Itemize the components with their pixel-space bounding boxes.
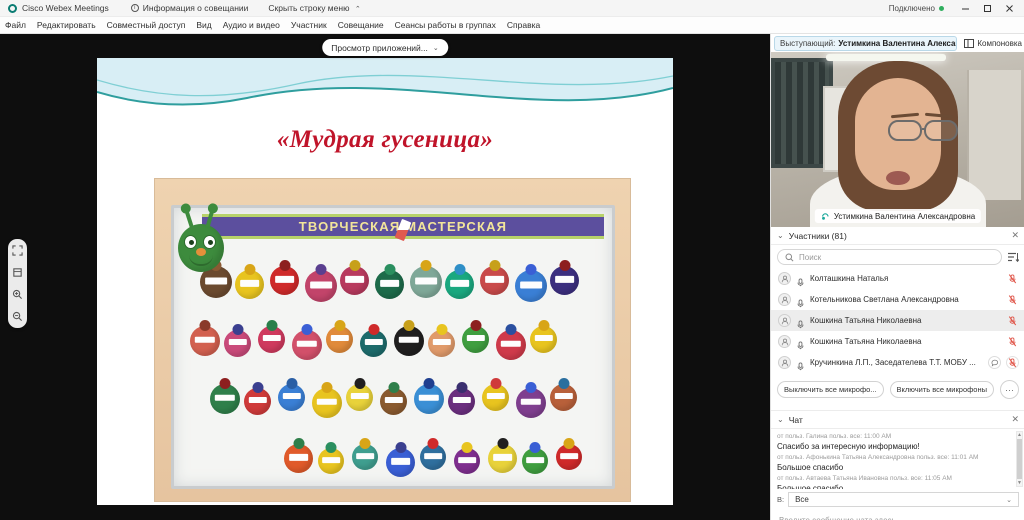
paper-label [534,335,552,341]
paper-label [493,454,513,460]
paper-circle [278,384,305,411]
sort-participants-icon[interactable] [1007,251,1019,263]
maximize-button[interactable] [976,0,998,16]
paper-cap [559,260,570,271]
participant-row[interactable]: Кошкина Татьяна Николаевна [771,310,1024,331]
paper-cap [395,442,406,453]
paper-circle [414,384,444,414]
paper-cap [436,324,447,335]
paper-cap [293,438,304,449]
menu-item-audio-video[interactable]: Аудио и видео [223,20,280,30]
paper-label [248,397,266,403]
video-name-chip: Устимкина Валентина Александровна [815,209,981,223]
paper-label [262,335,280,341]
paper-label [310,281,332,288]
paper-label [486,393,504,399]
participant-row[interactable]: Колташкина Наталья [771,268,1024,289]
paper-circle [270,266,299,295]
layout-icon [964,39,974,48]
paper-circle [360,330,387,357]
mic-muted-icon [1008,337,1017,347]
paper-cap [428,438,439,449]
paper-cap [279,260,290,271]
avatar [778,335,791,348]
paper-circle [235,270,264,299]
application-view-dropdown[interactable]: Просмотр приложений... ⌄ [322,39,448,56]
layout-button[interactable]: Компоновка [964,39,1022,48]
paper-circle [346,384,373,411]
webex-meeting-window: Cisco Webex Meetings i Информация о сове… [0,0,1024,520]
paper-cap [244,264,255,275]
participant-row[interactable]: Кошкина Татьяна Николаевна [771,331,1024,352]
paper-cap [530,442,541,453]
zoom-out-icon[interactable] [11,310,24,323]
mute-toggle-icon[interactable] [1006,272,1019,285]
meeting-info-label: Информация о совещании [143,3,249,13]
mute-all-button[interactable]: Выключить все микрофо... [777,381,884,398]
paper-cap [384,264,395,275]
paper-cap [316,264,327,275]
paper-circle [448,388,475,415]
close-chat-icon[interactable]: ✕ [1011,414,1019,425]
participant-chat-icon[interactable] [988,356,1001,369]
slide-photo: ТВОРЧЕСКАЯ МАСТЕРСКАЯ [154,178,631,502]
participant-name: Колташкина Наталья [810,274,1001,283]
titlebar-right-group: Подключено [889,0,1020,16]
person-icon [781,359,789,367]
audio-status-icon [796,274,805,283]
active-speaker-prefix: Выступающий: [780,39,835,48]
menu-item-file[interactable]: Файл [5,20,26,30]
paper-cap [200,320,211,331]
paper-label [526,457,544,463]
chat-scrollbar[interactable]: ▲ ▼ [1016,431,1023,487]
layout-label: Компоновка [977,39,1022,48]
paper-label [419,395,439,402]
chat-message-meta: от польз. Автаева Татьяна Ивановна польз… [777,474,1019,483]
search-icon [785,253,794,262]
audio-status-icon [796,316,805,325]
participants-title: Участники (81) [789,231,847,241]
paper-cap [490,378,501,389]
person-icon [781,317,789,325]
search-input[interactable] [799,253,994,262]
menu-bar: Файл Редактировать Совместный доступ Вид… [0,17,1024,34]
mute-toggle-icon[interactable] [1006,293,1019,306]
paper-circle [210,384,240,414]
paper-circle [428,330,455,357]
paper-cap [360,438,371,449]
paper-cap [232,324,243,335]
paper-cap [326,442,337,453]
mic-icon [796,299,805,308]
fit-width-icon[interactable] [11,266,24,279]
mic-muted-icon [1008,358,1017,368]
mic-muted-icon [1008,316,1017,326]
paper-label [228,339,246,345]
audio-status-icon [796,337,805,346]
paper-cap [421,260,432,271]
paper-cap [220,378,231,389]
paper-label [380,280,400,286]
paper-circle [244,388,271,415]
paper-label [384,397,402,403]
paper-circle [318,448,344,474]
mute-toggle-icon[interactable] [1006,335,1019,348]
chevron-down-icon: ⌄ [433,44,439,52]
paper-label [350,393,368,399]
eye-right [203,235,216,249]
paper-cap [506,324,517,335]
chat-recipient-select[interactable]: Все ⌄ [788,492,1019,507]
eye-left [184,235,197,249]
paper-cap [538,320,549,331]
stage-zoom-toolbar [8,239,27,328]
paper-cap [354,378,365,389]
person-icon [781,338,789,346]
antenna-left [184,210,193,227]
mouth [189,255,213,266]
mouth [886,171,910,185]
paper-cap [456,382,467,393]
paper-circle [515,270,547,302]
paper-cap [349,260,360,271]
video-door [967,70,1021,200]
participants-action-buttons: Выключить все микрофо... Включить все ми… [771,376,1024,403]
active-speaker-bar: Выступающий: Устимкина Валентина Алексан… [771,34,1024,52]
hide-menubar-button[interactable]: Скрыть строку меню ⌃ [268,3,360,13]
paper-label [554,393,572,399]
menu-item-participant[interactable]: Участник [291,20,327,30]
paper-circle [480,266,509,295]
chevron-down-icon: ⌄ [1006,496,1012,504]
chat-message-meta: от польз. Афонькина Татьяна Александровн… [777,453,1019,462]
zoom-in-icon[interactable] [11,288,24,301]
paper-circle [380,388,407,415]
paper-circle [516,388,546,418]
paper-cap [388,382,399,393]
mute-toggle-icon[interactable] [1006,314,1019,327]
paper-circle [550,384,577,411]
chevron-down-icon[interactable]: ⌄ [777,415,784,424]
paper-cap [564,438,575,449]
paper-circle [556,444,582,470]
paper-label [485,276,505,282]
active-speaker-chip: Выступающий: Устимкина Валентина Алексан… [774,36,957,51]
paper-label [297,341,317,348]
mic-icon [796,278,805,287]
chat-recipient-label: В: [777,495,784,504]
eyebrow-left [891,113,919,118]
video-participant-name: Устимкина Валентина Александровна [834,212,975,221]
paper-circle [462,326,489,353]
paper-circle [445,270,474,299]
eyeglass-left [888,120,922,141]
paper-label [215,395,235,402]
connection-status-label: Подключено [889,4,935,13]
menu-item-help[interactable]: Справка [507,20,540,30]
mic-icon [796,341,805,350]
paper-cap [252,382,263,393]
participant-row[interactable]: Кручинкина Л.П., Заседателева Т.Т. МОБУ … [771,352,1024,373]
paper-circle [394,326,424,356]
participant-name: Кручинкина Л.П., Заседателева Т.Т. МОБУ … [810,358,983,367]
paper-cap [526,382,537,393]
paper-label [560,453,578,459]
participant-name: Котельникова Светлана Александровна [810,295,1001,304]
paper-circle [340,266,369,295]
paper-circle [305,270,337,302]
mic-icon [796,362,805,371]
avatar [778,356,791,369]
paper-label [240,280,260,286]
paper-label [330,335,348,341]
participants-header: ⌄ Участники (81) ✕ [771,227,1024,245]
paper-label [452,397,470,403]
paper-cap [497,438,508,449]
participant-name: Кошкина Татьяна Николаевна [810,316,1001,325]
person-icon [781,275,789,283]
mute-toggle-icon[interactable] [1006,356,1019,369]
paper-label [345,276,365,282]
menu-item-breakout-sessions[interactable]: Сеансы работы в группах [395,20,496,30]
slide-title: «Мудрая гусеница» [97,126,673,154]
minimize-button[interactable] [954,0,976,16]
paper-label [317,399,337,406]
paper-circle [386,448,415,477]
participant-name: Кошкина Татьяна Николаевна [810,337,1001,346]
shared-content-stage: Просмотр приложений... ⌄ [0,34,770,520]
paper-label [289,454,309,460]
hide-menubar-label: Скрыть строку меню [268,3,349,13]
paper-label [415,277,437,284]
chat-title: Чат [789,415,803,425]
photo-banner: ТВОРЧЕСКАЯ МАСТЕРСКАЯ [202,214,604,239]
chat-recipient-value: Все [795,495,1006,504]
paper-label [399,337,419,344]
paper-circle [326,326,353,353]
connection-status-dot [939,6,944,11]
paper-cap [470,320,481,331]
paper-circle [352,444,378,470]
paper-label [520,281,542,288]
paper-cap [334,320,345,331]
eyeglass-bridge [922,128,926,130]
active-speaker-video-tile[interactable]: Устимкина Валентина Александровна [771,52,1024,227]
paper-label [356,453,374,459]
paper-circle [258,326,285,353]
paper-label [555,276,575,282]
mic-muted-icon [1008,295,1017,305]
paper-cap [404,320,415,331]
paper-circle [375,270,404,299]
audio-status-icon [796,358,805,367]
app-title: Cisco Webex Meetings [22,3,109,13]
paper-cap [266,320,277,331]
paper-label [391,458,411,464]
paper-label [450,280,470,286]
participants-more-button[interactable]: ··· [1000,380,1019,399]
paper-circle [284,444,313,473]
person-icon [781,296,789,304]
close-button[interactable] [998,0,1020,16]
video-person-face [855,78,941,190]
eyeglass-right [924,120,958,141]
paper-cap [322,382,333,393]
paper-cap [286,378,297,389]
chat-scroll-thumb[interactable] [1017,439,1022,479]
paper-cap [558,378,569,389]
caterpillar-head [178,224,224,272]
application-view-label: Просмотр приложений... [331,43,428,53]
paper-circle [496,330,526,360]
video-ceiling-light [826,54,946,61]
chat-panel: ⌄ Чат ✕ от польз. Галина польз. все: 11:… [771,410,1024,520]
paper-circle [420,444,446,470]
active-speaker-name: Устимкина Валентина Александровна [838,39,957,48]
unmute-all-button[interactable]: Включить все микрофоны [890,381,994,398]
paper-label [205,277,227,284]
participant-row[interactable]: Котельникова Светлана Александровна [771,289,1024,310]
chat-message-text: Большое спасибо [777,462,1019,473]
paper-circle [530,326,557,353]
meeting-info-button[interactable]: i Информация о совещании [131,3,249,13]
mic-icon [796,320,805,329]
shared-slide: «Мудрая гусеница» ТВОРЧЕСКАЯ МАСТЕРСКАЯ [97,58,673,505]
webex-logo-icon [8,4,17,13]
paper-cap [489,260,500,271]
paper-label [424,453,442,459]
avatar [778,314,791,327]
paper-label [195,337,215,344]
menu-item-meeting[interactable]: Совещание [338,20,384,30]
paper-circle [190,326,220,356]
paper-label [322,457,340,463]
paper-circle [522,448,548,474]
paper-cap [454,264,465,275]
paper-circle [410,266,442,298]
paper-cap [424,378,435,389]
avatar [778,293,791,306]
paper-circle [224,330,251,357]
chat-message-input[interactable]: Введите сообщение чата здесь [771,510,1024,520]
scroll-up-arrow-icon[interactable]: ▲ [1017,432,1022,438]
info-icon: i [131,4,139,12]
chevron-up-icon: ⌃ [355,6,361,13]
paper-label [521,399,541,406]
audio-status-icon [796,295,805,304]
chat-header: ⌄ Чат ✕ [771,411,1024,429]
paper-circle [292,330,322,360]
paper-circle [550,266,579,295]
paper-label [466,335,484,341]
paper-label [282,393,300,399]
chat-bubble-icon [991,359,999,367]
paper-cap [526,264,537,275]
participants-panel: ⌄ Участники (81) ✕ Колташкина НатальяКот… [771,227,1024,379]
chevron-down-icon[interactable]: ⌄ [777,231,784,240]
paper-label [458,457,476,463]
paper-label [275,276,295,282]
chat-messages: от польз. Галина польз. все: 11:00 AMСпа… [777,432,1019,489]
menu-item-view[interactable]: Вид [196,20,211,30]
paper-cap [368,324,379,335]
paper-cap [462,442,473,453]
scroll-down-arrow-icon[interactable]: ▼ [1017,480,1022,486]
chat-message-log[interactable]: от польз. Галина польз. все: 11:00 AMСпа… [771,429,1024,489]
participants-search-row [771,245,1024,268]
paper-label [364,339,382,345]
title-bar: Cisco Webex Meetings i Информация о сове… [0,0,1024,17]
audio-wave-icon [821,212,830,221]
photo-whiteboard: ТВОРЧЕСКАЯ МАСТЕРСКАЯ [171,205,615,489]
paper-label [432,339,450,345]
right-panel: Выступающий: Устимкина Валентина Алексан… [770,34,1024,520]
search-box[interactable] [777,249,1002,265]
chat-message-text: Спасибо за интересную информацию! [777,441,1019,452]
paper-cap [302,324,313,335]
paper-circle [482,384,509,411]
menu-item-edit[interactable]: Редактировать [37,20,96,30]
fit-to-view-icon[interactable] [11,244,24,257]
mic-muted-icon [1008,274,1017,284]
chat-message-text: Большое спасибо. [777,483,1019,489]
chat-message-meta: от польз. Галина польз. все: 11:00 AM [777,432,1019,441]
slide-decoration [97,58,673,136]
menu-item-share[interactable]: Совместный доступ [107,20,186,30]
avatar [778,272,791,285]
close-participants-icon[interactable]: ✕ [1011,230,1019,241]
chat-recipient-row: В: Все ⌄ [771,489,1024,510]
paper-circle [488,444,517,473]
participants-list[interactable]: Колташкина НатальяКотельникова Светлана … [771,268,1024,376]
paper-circle [454,448,480,474]
paper-label [501,341,521,348]
paper-circle [312,388,342,418]
